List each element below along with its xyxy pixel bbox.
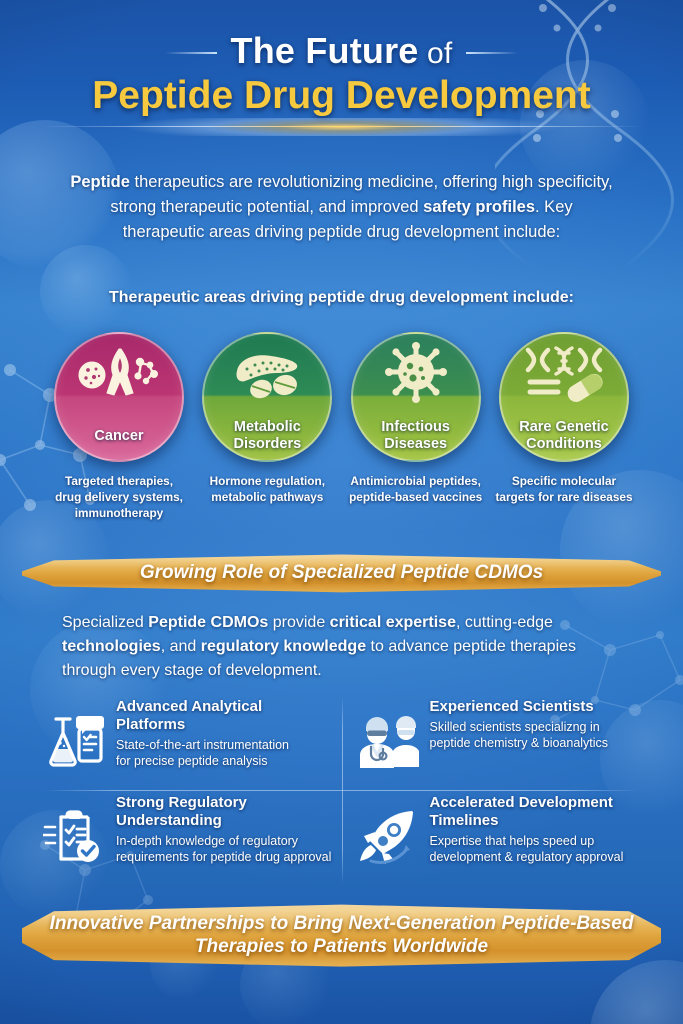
page-title: The Future of Peptide Drug Development (0, 30, 683, 118)
cancer-label: Cancer (56, 412, 182, 460)
capability-body: Accelerated Development Timelines Expert… (430, 794, 636, 882)
therapeutic-area-infectious[interactable]: Infectious Diseases Antimicrobial peptid… (347, 332, 485, 522)
capability-body: Advanced Analytical Platforms State-of-t… (116, 698, 332, 786)
footer-banner: Innovative Partnerships to Bring Next-Ge… (22, 902, 661, 968)
capability-description: Skilled scientists specializng in peptid… (430, 719, 636, 751)
rare-genetic-description: Specific molecular targets for rare dise… (495, 474, 633, 506)
cdmo-paragraph: Specialized Peptide CDMOs provide critic… (62, 611, 633, 683)
intro-bold-safety: safety profiles (423, 198, 535, 216)
capabilities-grid: Advanced Analytical Platforms State-of-t… (38, 694, 645, 886)
cancer-ribbon-icon (77, 345, 161, 401)
cdmo-text-2: , cutting-edge (456, 614, 553, 631)
footer-banner-text: Innovative Partnerships to Bring Next-Ge… (22, 912, 661, 958)
cdmo-banner: Growing Role of Specialized Peptide CDMO… (22, 552, 661, 594)
capability-title: Accelerated Development Timelines (430, 794, 636, 830)
infectious-description: Antimicrobial peptides, peptide-based va… (347, 474, 485, 506)
rare-genetic-icon-area (501, 334, 627, 412)
intro-paragraph: Peptide therapeutics are revolutionizing… (70, 170, 613, 244)
capability-advanced-analytical-platforms[interactable]: Advanced Analytical Platforms State-of-t… (38, 694, 342, 790)
infographic-poster: The Future of Peptide Drug Development P… (0, 0, 683, 1024)
therapeutic-areas-row: Cancer Targeted therapies, drug delivery… (50, 332, 633, 522)
title-line-2: Peptide Drug Development (0, 74, 683, 118)
capability-description: State-of-the-art instrumentation for pre… (116, 737, 332, 769)
capability-icon-wrap (42, 698, 106, 786)
infectious-icon-area (353, 334, 479, 412)
capability-body: Strong Regulatory Understanding In-depth… (116, 794, 332, 882)
intro-bold-peptide: Peptide (70, 173, 130, 191)
title-of: of (419, 37, 453, 70)
capability-icon-wrap (42, 794, 106, 882)
cdmo-text-0: Specialized (62, 614, 148, 631)
cdmo-text-3: , and (161, 638, 201, 655)
capability-accelerated-development-timelines[interactable]: Accelerated Development Timelines Expert… (342, 790, 646, 886)
capability-description: Expertise that helps speed up developmen… (430, 833, 636, 865)
metabolic-icon-area (204, 334, 330, 412)
cdmo-bold-1: Peptide CDMOs (148, 614, 268, 631)
capability-icon-wrap (356, 794, 420, 882)
cancer-circle[interactable]: Cancer (54, 332, 184, 462)
capability-description: In-depth knowledge of regulatory require… (116, 833, 332, 865)
infectious-circle[interactable]: Infectious Diseases (351, 332, 481, 462)
capability-strong-regulatory-understanding[interactable]: Strong Regulatory Understanding In-depth… (38, 790, 342, 886)
cdmo-bold-4: regulatory knowledge (201, 638, 366, 655)
scientists-icon (357, 715, 419, 769)
therapeutic-area-cancer[interactable]: Cancer Targeted therapies, drug delivery… (50, 332, 188, 522)
rare-genetic-circle[interactable]: Rare Genetic Conditions (499, 332, 629, 462)
pancreas-pills-icon (227, 345, 307, 401)
therapeutic-area-rare[interactable]: Rare Genetic Conditions Specific molecul… (495, 332, 633, 522)
cdmo-banner-text: Growing Role of Specialized Peptide CDMO… (114, 561, 569, 584)
capability-title: Advanced Analytical Platforms (116, 698, 332, 734)
capability-experienced-scientists[interactable]: Experienced Scientists Skilled scientist… (342, 694, 646, 790)
title-glow (62, 118, 622, 136)
therapeutic-area-metabolic[interactable]: Metabolic Disorders Hormone regulation, … (198, 332, 336, 522)
rare-genetic-label: Rare Genetic Conditions (501, 412, 627, 460)
infectious-label: Infectious Diseases (353, 412, 479, 460)
metabolic-label: Metabolic Disorders (204, 412, 330, 460)
rocket-icon (357, 809, 419, 867)
title-prefix: The Future (231, 30, 419, 71)
title-line-1: The Future of (231, 30, 453, 72)
metabolic-description: Hormone regulation, metabolic pathways (198, 474, 336, 506)
virus-icon (383, 342, 449, 404)
cdmo-bold-2: critical expertise (330, 614, 456, 631)
cancer-icon-area (56, 334, 182, 412)
capability-title: Strong Regulatory Understanding (116, 794, 332, 830)
intro-subheading: Therapeutic areas driving peptide drug d… (40, 287, 643, 309)
cdmo-bold-3: technologies (62, 638, 161, 655)
cancer-description: Targeted therapies, drug delivery system… (50, 474, 188, 522)
flask-tablet-icon (43, 713, 105, 771)
cdmo-text-1: provide (268, 614, 329, 631)
dna-chromosome-capsule-icon (522, 344, 606, 402)
clipboard-checklist-icon (43, 809, 105, 867)
capability-body: Experienced Scientists Skilled scientist… (430, 698, 636, 786)
capability-title: Experienced Scientists (430, 698, 636, 716)
capability-icon-wrap (356, 698, 420, 786)
bokeh-bubble (590, 960, 683, 1024)
metabolic-circle[interactable]: Metabolic Disorders (202, 332, 332, 462)
